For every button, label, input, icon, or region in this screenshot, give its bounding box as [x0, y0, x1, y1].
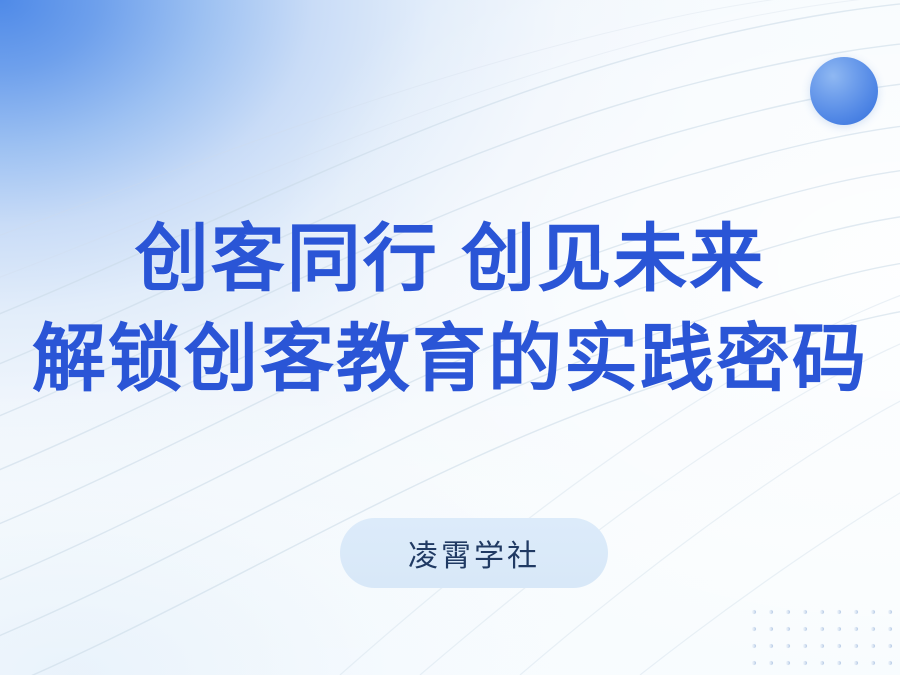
organization-label: 凌霄学社: [408, 531, 540, 575]
page-title: 创客同行 创见未来 解锁创客教育的实践密码: [0, 222, 900, 396]
title-line-secondary: 解锁创客教育的实践密码: [0, 322, 900, 396]
blue-sphere-decoration: [810, 57, 878, 125]
presentation-slide: 创客同行 创见未来 解锁创客教育的实践密码 凌霄学社: [0, 0, 900, 675]
title-line-primary: 创客同行 创见未来: [0, 222, 900, 296]
organization-badge: 凌霄学社: [340, 518, 608, 588]
